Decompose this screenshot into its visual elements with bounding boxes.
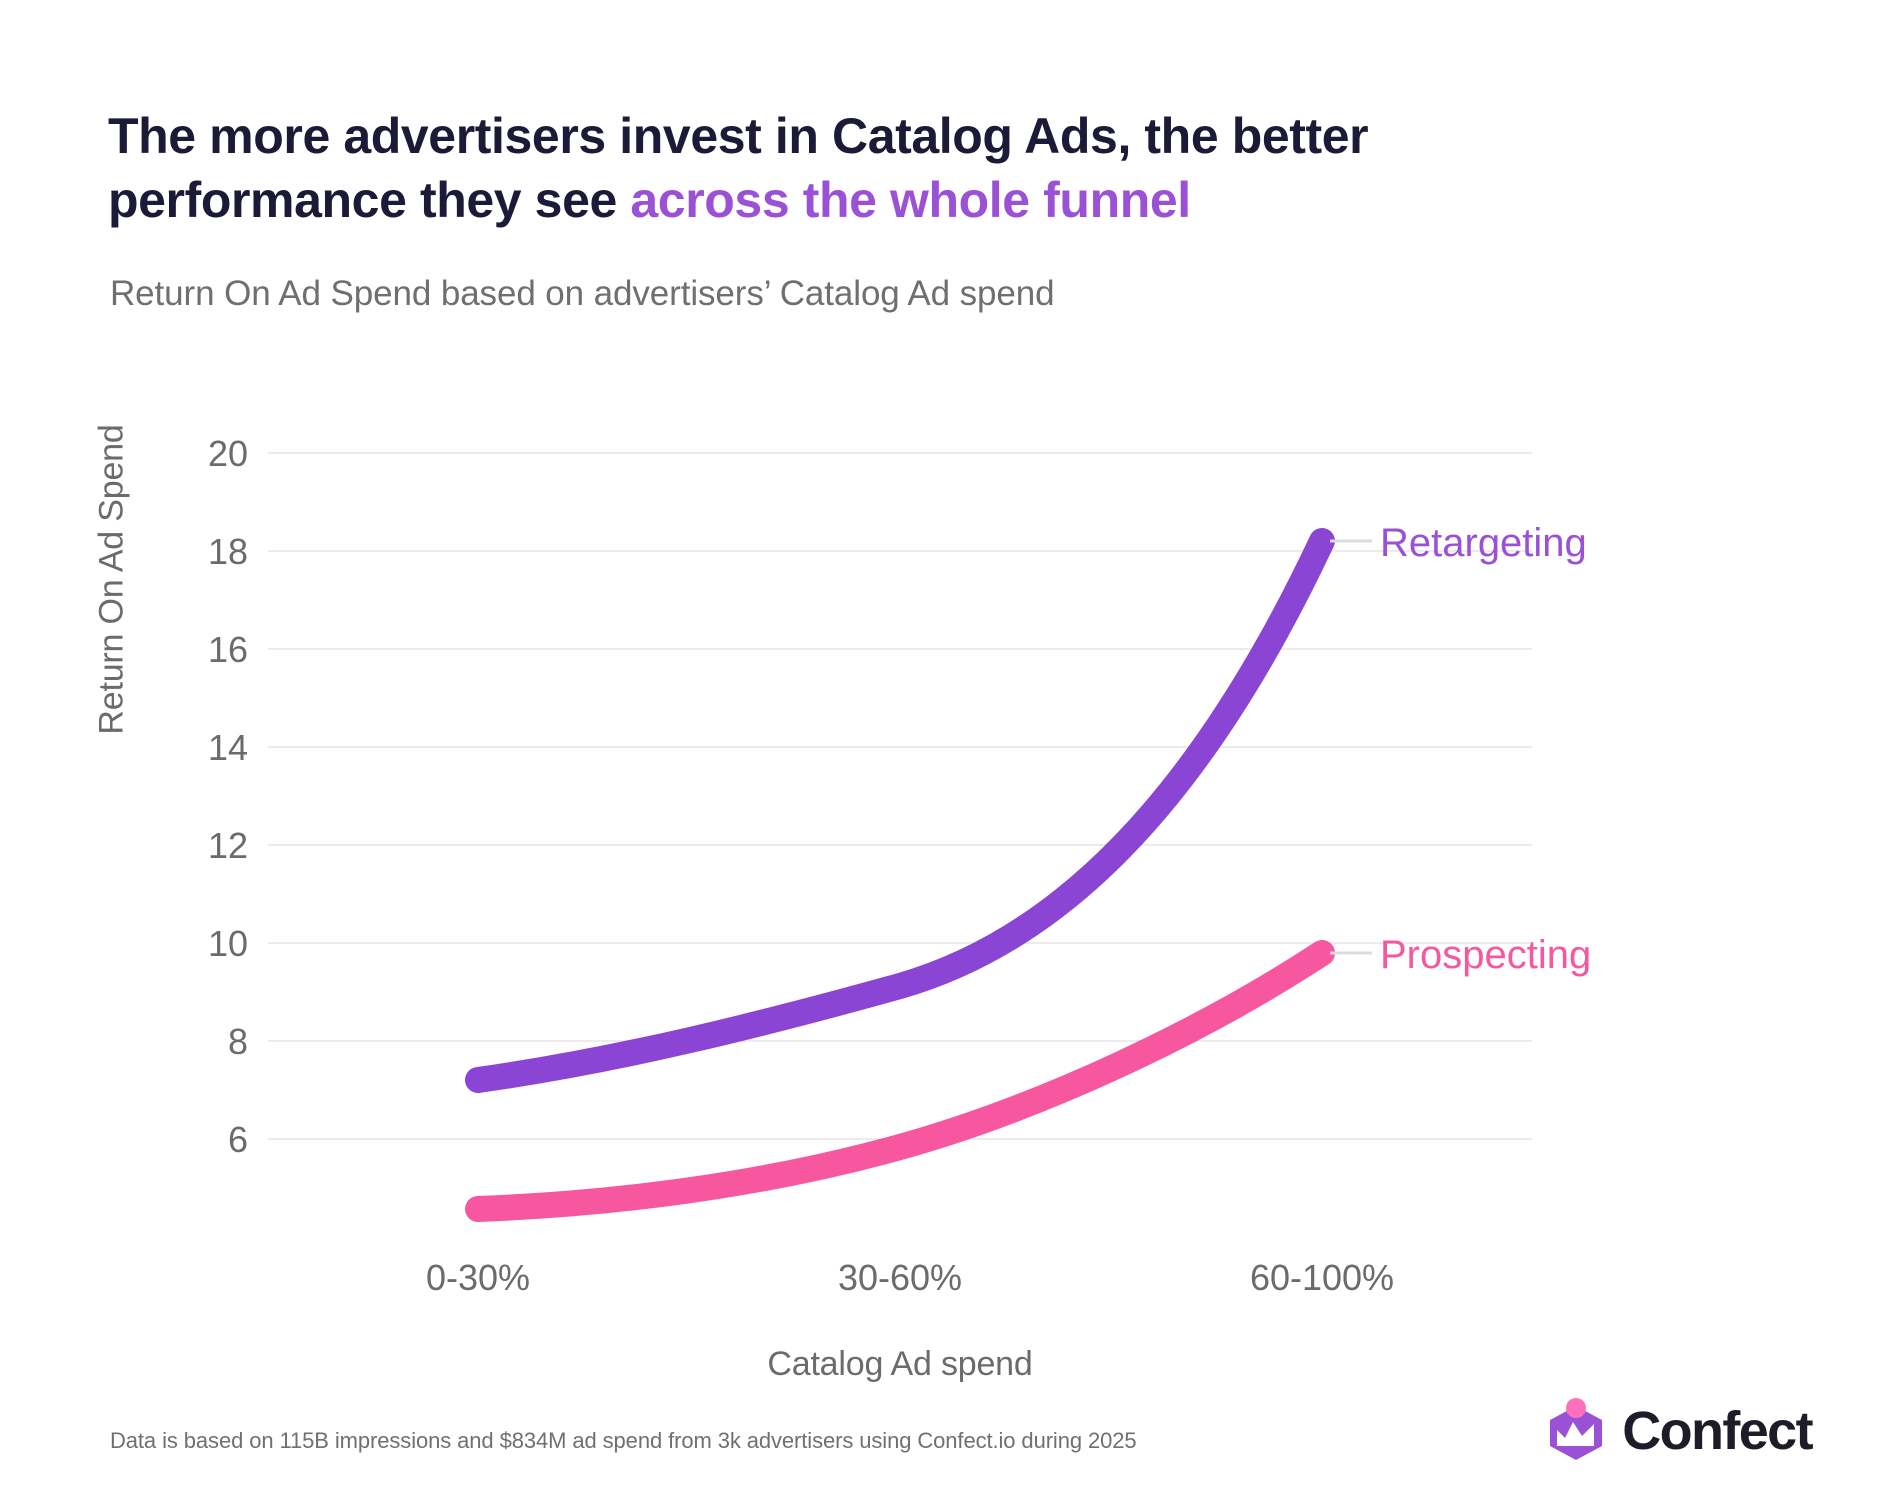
y-tick-label: 14 [208, 727, 248, 768]
y-tick-label: 12 [208, 825, 248, 866]
y-tick-label: 6 [228, 1119, 248, 1160]
footer-note: Data is based on 115B impressions and $8… [110, 1428, 1137, 1454]
confect-logo: Confect [1544, 1398, 1812, 1464]
x-tick-label: 60-100% [1250, 1257, 1394, 1298]
x-tick-label: 0-30% [426, 1257, 530, 1298]
page-title: The more advertisers invest in Catalog A… [108, 104, 1728, 232]
y-axis-title: Return On Ad Spend [93, 370, 132, 790]
y-axis-tick-labels: 20 18 16 14 12 10 8 6 [208, 433, 248, 1160]
logo-dot-icon [1566, 1398, 1586, 1418]
title-line-2-accent: across the whole funnel [630, 172, 1190, 228]
infographic-page: The more advertisers invest in Catalog A… [0, 0, 1890, 1512]
series-label-retargeting: Retargeting [1380, 521, 1587, 565]
confect-logo-icon [1544, 1398, 1608, 1464]
series-line-retargeting [478, 541, 1322, 1080]
series-label-prospecting: Prospecting [1380, 933, 1591, 977]
x-axis-title: Catalog Ad spend [480, 1345, 1320, 1384]
y-tick-label: 8 [228, 1021, 248, 1062]
gridlines [268, 453, 1532, 1139]
page-subtitle: Return On Ad Spend based on advertisers’… [110, 274, 1054, 314]
roas-line-chart: 20 18 16 14 12 10 8 6 0-30% 30-60% 60-10… [0, 400, 1890, 1300]
y-tick-label: 20 [208, 433, 248, 474]
x-axis-tick-labels: 0-30% 30-60% 60-100% [426, 1257, 1394, 1298]
y-tick-label: 18 [208, 531, 248, 572]
confect-wordmark: Confect [1622, 1404, 1812, 1458]
title-line-2-plain: performance they see [108, 172, 630, 228]
x-tick-label: 30-60% [838, 1257, 962, 1298]
y-tick-label: 16 [208, 629, 248, 670]
title-line-1: The more advertisers invest in Catalog A… [108, 108, 1368, 164]
y-tick-label: 10 [208, 923, 248, 964]
chart-container: 20 18 16 14 12 10 8 6 0-30% 30-60% 60-10… [0, 400, 1890, 1300]
